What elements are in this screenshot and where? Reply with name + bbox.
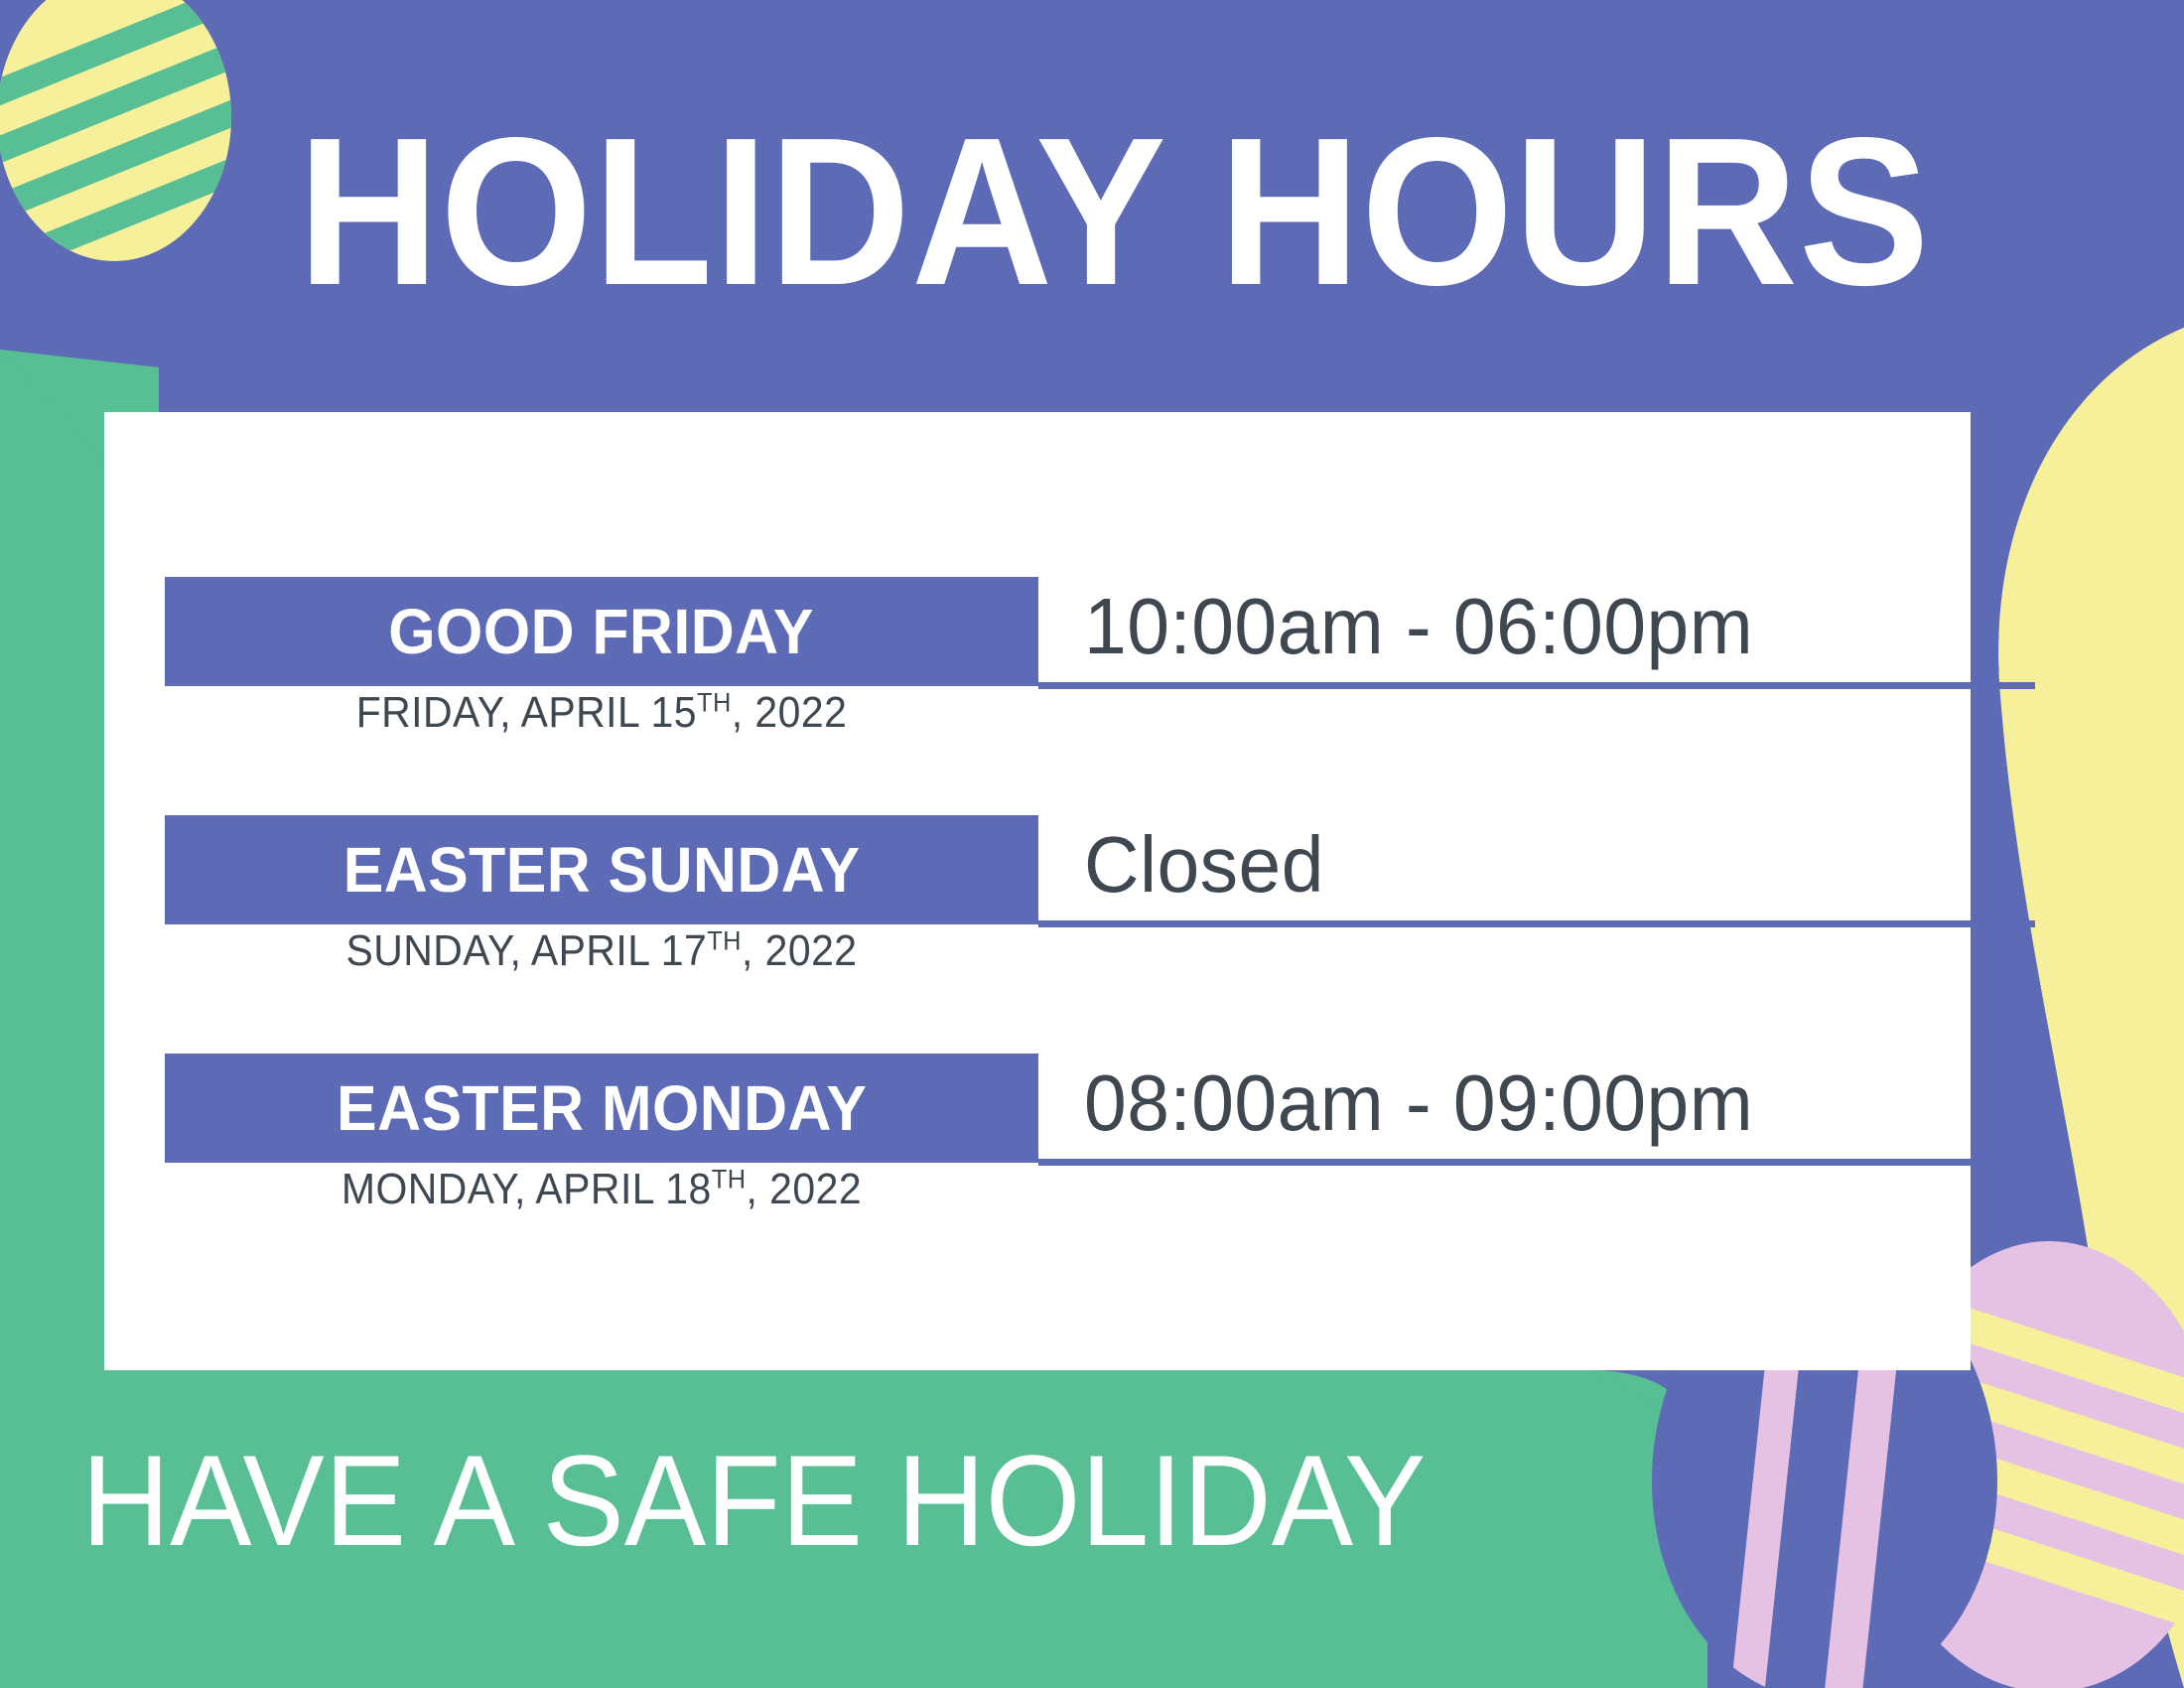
schedule-row: GOOD FRIDAY FRIDAY, APRIL 15TH, 2022 10:… bbox=[104, 577, 1971, 815]
holiday-date: SUNDAY, APRIL 17TH, 2022 bbox=[196, 926, 1008, 976]
holiday-hours-cell: 10:00am - 06:00pm bbox=[1038, 573, 2035, 692]
holiday-hours: 08:00am - 09:00pm bbox=[1084, 1050, 1753, 1157]
holiday-hours-cell: Closed bbox=[1038, 811, 2035, 930]
holiday-hours: Closed bbox=[1084, 811, 1324, 918]
poster-canvas: HOLIDAY HOURS GOOD FRIDAY FRIDAY, APRIL … bbox=[0, 0, 2184, 1688]
holiday-hours-cell: 08:00am - 09:00pm bbox=[1038, 1050, 2035, 1169]
footer-message: HAVE A SAFE HOLIDAY bbox=[81, 1426, 1426, 1575]
schedule-card: GOOD FRIDAY FRIDAY, APRIL 15TH, 2022 10:… bbox=[104, 412, 1971, 1370]
holiday-hours: 10:00am - 06:00pm bbox=[1084, 573, 1753, 680]
holiday-date-suffix: , 2022 bbox=[732, 688, 848, 737]
holiday-name: GOOD FRIDAY bbox=[389, 595, 815, 668]
holiday-date-ordinal: TH bbox=[697, 686, 732, 717]
holiday-label-bar: EASTER MONDAY bbox=[165, 1054, 1038, 1163]
holiday-date-prefix: SUNDAY, APRIL 17 bbox=[345, 926, 707, 975]
hours-underline bbox=[1038, 920, 2035, 927]
holiday-date-ordinal: TH bbox=[712, 1163, 747, 1194]
holiday-date-prefix: MONDAY, APRIL 18 bbox=[341, 1165, 712, 1213]
holiday-date: MONDAY, APRIL 18TH, 2022 bbox=[196, 1165, 1008, 1214]
holiday-date-prefix: FRIDAY, APRIL 15 bbox=[356, 688, 697, 737]
holiday-label-bar: EASTER SUNDAY bbox=[165, 815, 1038, 924]
page-title: HOLIDAY HOURS bbox=[298, 117, 1867, 306]
holiday-label-bar: GOOD FRIDAY bbox=[165, 577, 1038, 686]
holiday-name: EASTER SUNDAY bbox=[343, 833, 861, 907]
holiday-date-ordinal: TH bbox=[707, 924, 742, 955]
holiday-date-suffix: , 2022 bbox=[742, 926, 858, 975]
hours-underline bbox=[1038, 1159, 2035, 1166]
holiday-name: EASTER MONDAY bbox=[337, 1071, 867, 1145]
holiday-date-suffix: , 2022 bbox=[747, 1165, 863, 1213]
schedule-row: EASTER MONDAY MONDAY, APRIL 18TH, 2022 0… bbox=[104, 1054, 1971, 1292]
schedule-row: EASTER SUNDAY SUNDAY, APRIL 17TH, 2022 C… bbox=[104, 815, 1971, 1054]
holiday-date: FRIDAY, APRIL 15TH, 2022 bbox=[196, 688, 1008, 738]
hours-underline bbox=[1038, 682, 2035, 689]
